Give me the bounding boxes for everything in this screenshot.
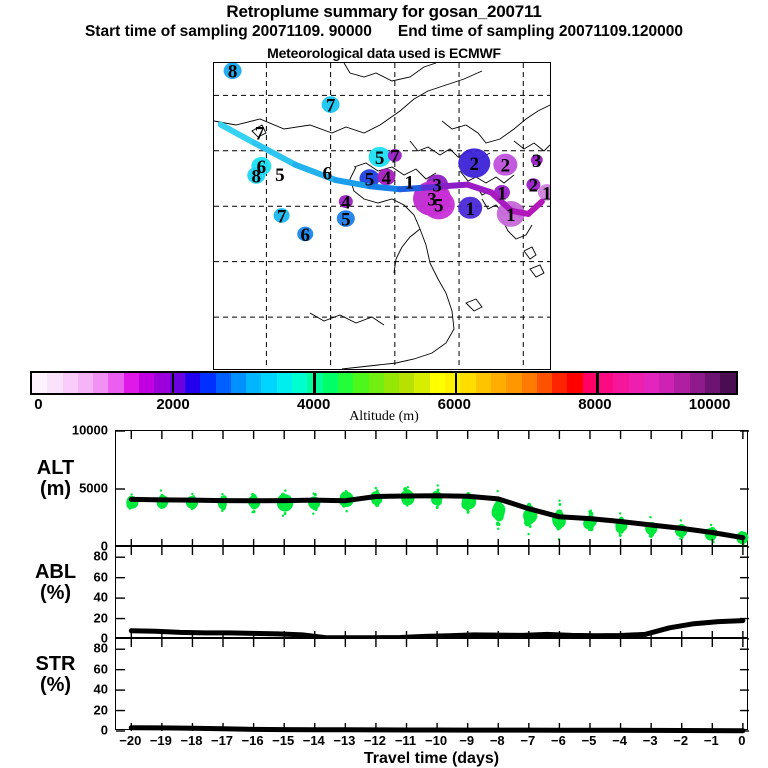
y-tick-label: 40 [48, 682, 108, 697]
colorbar-segment [552, 373, 567, 393]
alt-scatter-dot [741, 531, 743, 534]
x-tick-label: −12 [364, 733, 386, 748]
map-trajectory-segment [468, 185, 492, 193]
alt-axis-label-line1: ALT [8, 458, 103, 479]
alt-scatter-dot [345, 510, 347, 513]
alt-scatter-dot [345, 490, 347, 493]
map-day-label: 6 [322, 163, 332, 184]
colorbar-segment [384, 373, 399, 393]
map-coastline [394, 229, 420, 273]
alt-scatter-dot [191, 493, 193, 496]
x-tick-label: −18 [180, 733, 202, 748]
colorbar-segment [108, 373, 123, 393]
y-tick-label: 80 [48, 549, 108, 564]
alt-scatter-dot [558, 499, 560, 502]
map-day-label: 2 [529, 176, 539, 197]
map-trajectory-segment [221, 125, 255, 143]
alt-scatter-dot [404, 489, 407, 492]
colorbar-segment [323, 373, 338, 393]
map-day-label: 5 [275, 165, 285, 186]
map-day-label: 3 [532, 151, 542, 172]
map-coastline [514, 141, 550, 151]
colorbar-segment [445, 373, 460, 393]
y-tick-label: 60 [48, 661, 108, 676]
map-trajectory-segment [444, 185, 468, 187]
colorbar-segment [430, 373, 445, 393]
colorbar-segment [659, 373, 674, 393]
map-day-label: 8 [252, 166, 262, 187]
alt-scatter-dot [376, 489, 379, 492]
colorbar-segment [613, 373, 628, 393]
alt-scatter-dot [160, 494, 163, 497]
colorbar-segment [124, 373, 139, 393]
sampling-time-row: Start time of sampling 20071109. 90000 E… [0, 23, 768, 41]
colorbar-segment [720, 373, 735, 393]
colorbar-segment [690, 373, 705, 393]
colorbar-segment [32, 373, 47, 393]
alt-scatter-dot [680, 519, 682, 522]
colorbar-segment [139, 373, 154, 393]
alt-scatter-dot [436, 506, 439, 509]
x-tick-label: −16 [242, 733, 264, 748]
alt-scatter-dot [496, 490, 498, 493]
alt-scatter-dot [497, 527, 499, 530]
colorbar-segment [292, 373, 307, 393]
x-tick-label: −2 [673, 733, 688, 748]
map-day-label: 6 [301, 225, 311, 246]
colorbar-segment [200, 373, 215, 393]
colorbar-divider [455, 371, 457, 395]
colorbar-segment [369, 373, 384, 393]
x-tick-label: −19 [150, 733, 172, 748]
str-plot [116, 639, 749, 731]
alt-scatter-dot [284, 489, 286, 492]
colorbar-segment [629, 373, 644, 393]
colorbar-segment [353, 373, 368, 393]
end-time-label: End time of sampling 20071109.120000 [398, 23, 683, 41]
colorbar-segment [231, 373, 246, 393]
y-tick-label: 60 [48, 569, 108, 584]
abl-panel[interactable] [115, 546, 748, 638]
page-title: Retroplume summary for gosan_200711 [0, 2, 768, 22]
map-day-label: 7 [326, 96, 336, 117]
map-day-label: 5 [434, 196, 444, 217]
altitude-colorbar[interactable] [30, 371, 738, 395]
colorbar-segment [598, 373, 613, 393]
alt-scatter-dot [284, 512, 287, 515]
colorbar-segment [338, 373, 353, 393]
alt-scatter-dot [527, 533, 529, 536]
alt-scatter-dot [649, 516, 651, 519]
map-coastline [524, 247, 536, 259]
map-day-label: 7 [390, 146, 400, 167]
colorbar-segment [277, 373, 292, 393]
map-day-label: 7 [255, 123, 265, 144]
map-day-label: 4 [382, 168, 392, 189]
colorbar-caption: Altitude (m) [0, 409, 768, 425]
colorbar-divider [172, 371, 174, 395]
alt-scatter-dot [437, 489, 440, 492]
map-trajectory-segment [528, 202, 542, 214]
y-tick-label: 20 [48, 610, 108, 625]
colorbar-segment [476, 373, 491, 393]
map-day-label: 5 [375, 148, 385, 169]
colorbar-segment [63, 373, 78, 393]
alt-scatter-dot [590, 509, 592, 512]
colorbar-segment [185, 373, 200, 393]
alt-scatter-dot [619, 512, 621, 515]
alt-scatter-dot [283, 494, 286, 497]
x-tick-label: −3 [643, 733, 658, 748]
alt-scatter-dot [130, 493, 132, 496]
y-tick-label: 10000 [48, 423, 108, 438]
alt-scatter-dot [710, 524, 712, 527]
colorbar-segment [154, 373, 169, 393]
alt-scatter-dot [375, 487, 377, 490]
colorbar-segment [460, 373, 475, 393]
colorbar-segment [537, 373, 552, 393]
alt-scatter-dot [312, 492, 314, 495]
x-tick-label: −10 [425, 733, 447, 748]
alt-scatter-dot [282, 514, 284, 517]
alt-scatter-dot [556, 510, 560, 514]
colorbar-segment [522, 373, 537, 393]
x-tick-label: −1 [704, 733, 719, 748]
colorbar-segment [399, 373, 414, 393]
map-canvas: 877685676455754223133511121 [214, 63, 551, 370]
map-coastline [344, 63, 436, 81]
colorbar-divider [313, 371, 315, 395]
colorbar-divider [596, 371, 598, 395]
retroplume-map[interactable]: 877685676455754223133511121 [213, 62, 551, 370]
x-tick-label: −11 [395, 733, 416, 748]
x-tick-label: −7 [520, 733, 535, 748]
alt-scatter-dot [312, 512, 314, 515]
alt-scatter-dot [160, 489, 162, 492]
map-coastline [466, 299, 482, 311]
map-day-label: 1 [506, 205, 516, 226]
colorbar-segment [705, 373, 720, 393]
colorbar-segment [246, 373, 261, 393]
x-tick-label: −5 [582, 733, 597, 748]
x-tick-label: −14 [303, 733, 325, 748]
alt-scatter-dot [559, 503, 562, 506]
colorbar-segment [491, 373, 506, 393]
y-tick-label: 20 [48, 702, 108, 717]
y-tick-label: 80 [48, 641, 108, 656]
x-tick-label: −17 [211, 733, 233, 748]
x-tick-label: −8 [490, 733, 505, 748]
colorbar-segment [506, 373, 521, 393]
map-day-label: 1 [465, 199, 475, 220]
x-tick-label: −13 [333, 733, 355, 748]
abl-plot [116, 547, 749, 639]
alt-scatter-dot [619, 534, 622, 537]
alt-scatter-dot [251, 493, 253, 496]
x-tick-label: −20 [119, 733, 141, 748]
colorbar-segment [216, 373, 231, 393]
colorbar-segment [567, 373, 582, 393]
met-data-label: Meteorological data used is ECMWF [0, 45, 768, 61]
map-day-label: 2 [470, 154, 480, 175]
map-day-label: 8 [228, 63, 238, 83]
map-day-label: 5 [341, 210, 351, 231]
colorbar-segment [414, 373, 429, 393]
alt-scatter-dot [253, 510, 256, 513]
y-tick-label: 40 [48, 590, 108, 605]
alt-plot [116, 431, 749, 547]
x-axis-label: Travel time (days) [115, 750, 748, 768]
map-coastline [310, 313, 384, 325]
x-tick-label: −6 [551, 733, 566, 748]
map-day-label: 1 [405, 173, 415, 194]
colorbar-segment [47, 373, 62, 393]
colorbar-segment [644, 373, 659, 393]
x-tick-label: −9 [459, 733, 474, 748]
colorbar-segment [78, 373, 93, 393]
map-day-label: 1 [542, 183, 551, 204]
str-panel[interactable] [115, 638, 748, 730]
alt-scatter-dot [221, 493, 223, 496]
map-coastline [442, 105, 550, 143]
map-day-label: 7 [277, 206, 287, 227]
x-tick-label: −15 [272, 733, 294, 748]
colorbar-segment [674, 373, 689, 393]
map-day-label: 5 [365, 170, 375, 191]
y-tick-label: 0 [48, 723, 108, 738]
colorbar-segment [261, 373, 276, 393]
x-tick-label: 0 [738, 733, 745, 748]
map-coastline [530, 265, 544, 277]
map-day-label: 2 [501, 156, 511, 177]
y-tick-label: 5000 [48, 481, 108, 496]
x-tick-label: −4 [612, 733, 627, 748]
alt-scatter-dot [407, 486, 409, 489]
alt-panel[interactable] [115, 430, 748, 546]
start-time-label: Start time of sampling 20071109. 90000 [85, 23, 372, 41]
alt-scatter-dot [436, 484, 438, 487]
map-day-label: 1 [497, 183, 507, 204]
colorbar-segment [93, 373, 108, 393]
alt-scatter-dot [496, 522, 500, 526]
